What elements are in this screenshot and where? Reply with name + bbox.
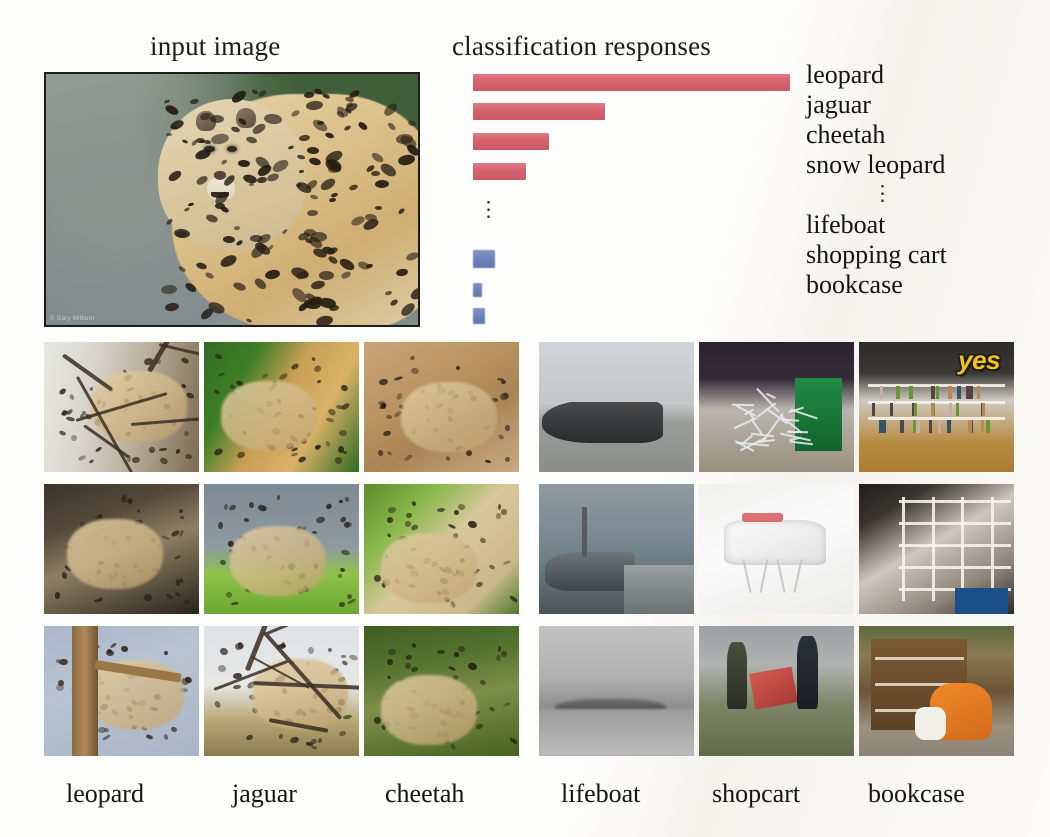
animal-spot: [175, 449, 181, 455]
animal-spot: [488, 564, 495, 570]
shelf-divider: [902, 497, 905, 601]
leopard-spot: [311, 280, 326, 291]
shelf-edge: [868, 417, 1004, 420]
thumbnail-scene: [539, 484, 694, 614]
leopard-spot: [357, 121, 368, 132]
animal-spot: [58, 388, 67, 396]
dock: [624, 565, 694, 614]
animal-spot: [387, 532, 393, 537]
animal-spot: [214, 353, 223, 360]
animal-spot: [404, 454, 414, 462]
figure-canvas: input image classification responses © G…: [0, 0, 1050, 837]
animal-spot: [219, 647, 229, 656]
bar-leopard: [473, 74, 790, 91]
animal-spot: [340, 567, 346, 573]
thumbnail-row: yes: [539, 342, 1014, 472]
leopard-spot: [271, 157, 291, 174]
leopard-spot: [405, 251, 419, 262]
thumbnail-scene: [859, 626, 1014, 756]
animal-spot: [102, 734, 111, 741]
leopard-spot: [195, 262, 208, 271]
animal-body-blob: [401, 382, 497, 452]
boat-hull: [542, 399, 663, 443]
column-caption-leopard: leopard: [66, 779, 144, 809]
thumbnail-cheetah[interactable]: [364, 626, 519, 756]
thumbnail-scene: [204, 626, 359, 756]
thumbnail-row: [539, 626, 1014, 756]
animal-spot: [228, 503, 237, 511]
leopard-spot: [177, 265, 186, 273]
animal-spot: [496, 654, 501, 660]
class-label-lifeboat: lifeboat: [806, 210, 1046, 240]
animal-spot: [290, 362, 300, 371]
animal-spot: [315, 445, 321, 450]
animal-spot: [339, 730, 348, 737]
thumbnail-bookcase[interactable]: yes: [859, 342, 1014, 472]
book: [957, 386, 960, 399]
animal-spot: [379, 378, 389, 385]
animal-spot: [328, 647, 333, 652]
yes-overlay-text: yes: [958, 347, 1000, 373]
animal-spot: [445, 455, 451, 461]
thumbnail-scene: [699, 626, 854, 756]
leopard-spot: [308, 157, 321, 167]
animal-spot: [396, 392, 404, 400]
classification-bar-chart: [473, 70, 803, 320]
book: [938, 420, 941, 433]
thumbnail-scene: [364, 626, 519, 756]
leopard-spot: [253, 276, 268, 291]
animal-body-blob: [67, 519, 163, 589]
thumbnail-shopcart[interactable]: [699, 342, 854, 472]
animal-spot: [78, 455, 87, 462]
leopard-spot: [324, 157, 344, 173]
cart-handle-red: [742, 513, 782, 522]
animal-spot: [387, 659, 394, 665]
leopard-spot: [251, 122, 267, 136]
animal-body-blob: [230, 526, 326, 596]
animal-spot: [411, 643, 417, 650]
animal-spot: [181, 356, 190, 364]
tree-branch: [61, 353, 112, 391]
animal-spot: [107, 648, 112, 653]
book: [872, 403, 875, 416]
leopard-spot: [210, 132, 229, 145]
animal-spot: [312, 531, 317, 534]
animal-spot: [410, 523, 418, 530]
animal-spot: [387, 451, 393, 457]
animal-spot: [475, 581, 483, 588]
shelf-divider: [991, 497, 994, 601]
person-left: [727, 642, 747, 710]
leopard-spot: [408, 120, 418, 127]
animal-spot: [183, 430, 190, 436]
book: [981, 420, 984, 433]
animal-spot: [68, 394, 75, 402]
leopard-spot: [357, 261, 370, 271]
animal-spot: [342, 659, 349, 665]
animal-spot: [55, 683, 64, 691]
animal-spot: [497, 433, 504, 440]
book: [914, 403, 917, 416]
photo-watermark: © Gary Milburn: [50, 316, 95, 322]
leopard-spot: [304, 92, 315, 99]
animal-spot: [411, 501, 417, 508]
animal-spot: [175, 591, 182, 597]
leopard-spot: [164, 103, 180, 116]
book: [890, 403, 893, 416]
thumbnail-scene: [204, 342, 359, 472]
animal-spot: [335, 457, 343, 465]
bar-lifeboat: [473, 250, 495, 268]
class-label-snow-leopard: snow leopard: [806, 150, 1046, 180]
leopard-spot: [375, 206, 382, 210]
bar-jaguar: [473, 103, 605, 120]
book: [947, 420, 950, 433]
leopard-spot: [327, 255, 339, 265]
leopard-spot: [232, 281, 247, 292]
red-cart: [749, 667, 798, 710]
animal-spot: [406, 655, 412, 661]
animal-spot: [244, 517, 249, 522]
animal-spot: [132, 457, 140, 464]
leopard-spot: [234, 226, 241, 230]
thumbnail-row: [539, 484, 1014, 614]
animal-spot: [508, 594, 518, 603]
animal-spot: [467, 520, 478, 529]
animal-spot: [496, 512, 501, 518]
animal-spot: [158, 448, 167, 452]
leopard-spot: [223, 236, 236, 244]
book: [982, 403, 985, 416]
thumbnail-lifeboat[interactable]: [539, 342, 694, 472]
animal-spot: [508, 736, 518, 745]
classification-responses-heading: classification responses: [452, 31, 711, 62]
animal-spot: [148, 446, 156, 454]
animal-spot: [458, 504, 466, 511]
animal-spot: [475, 723, 483, 730]
thumbnail-leopard[interactable]: [44, 626, 199, 756]
animal-spot: [343, 451, 347, 454]
thumbnail-leopard[interactable]: [44, 342, 199, 472]
animal-spot: [387, 648, 396, 656]
thumbnail-bookcase[interactable]: [859, 484, 1014, 614]
animal-spot: [174, 555, 182, 560]
class-label-list: leopard jaguar cheetah snow leopard ⋮ li…: [806, 60, 1046, 300]
animal-spot: [410, 665, 418, 672]
leopard-spot: [384, 290, 392, 296]
thumbnail-leopard[interactable]: [44, 484, 199, 614]
thumbnail-scene: [539, 626, 694, 756]
animal-spot: [479, 679, 487, 686]
tree-branch: [267, 626, 359, 635]
thumbnail-lifeboat[interactable]: [539, 484, 694, 614]
column-caption-bookcase: bookcase: [868, 779, 965, 809]
book: [977, 386, 980, 399]
animal-spot: [450, 743, 456, 751]
book: [909, 386, 912, 399]
leopard-spot: [184, 207, 191, 213]
leopard-spot: [338, 256, 357, 272]
leopard-spot: [324, 131, 335, 139]
animal-spot: [387, 517, 394, 523]
animal-spot: [437, 650, 446, 655]
animal-spot: [338, 446, 344, 453]
animal-spot: [145, 733, 153, 739]
animal-spot: [411, 367, 420, 375]
leopard-spot: [316, 314, 334, 327]
animal-spot: [59, 659, 68, 665]
leopard-spot: [238, 116, 248, 125]
thumbnail-scene: [699, 342, 854, 472]
class-label-jaguar: jaguar: [806, 90, 1046, 120]
animal-spot: [217, 371, 225, 377]
animal-spot: [261, 373, 268, 379]
bar-bookcase: [473, 308, 485, 324]
animal-spot: [393, 376, 402, 382]
book: [949, 403, 952, 416]
shelf-edge: [899, 522, 1011, 525]
column-caption-lifeboat: lifeboat: [561, 779, 640, 809]
leopard-spot: [246, 135, 258, 144]
leopard-spot: [219, 253, 239, 270]
animal-spot: [341, 654, 346, 658]
animal-spot: [339, 601, 345, 606]
animal-spot: [484, 460, 491, 464]
leopard-spot: [221, 158, 228, 164]
animal-spot: [164, 733, 169, 740]
thumbnail-lifeboat[interactable]: [539, 626, 694, 756]
animal-spot: [289, 736, 299, 744]
animal-spot: [232, 685, 240, 690]
animal-spot: [184, 453, 191, 459]
ship-mast: [582, 507, 587, 556]
animal-spot: [164, 651, 169, 656]
animal-spot: [213, 447, 223, 456]
warehouse-wall: [539, 342, 694, 402]
leopard-spot: [408, 284, 420, 302]
thumbnail-bookcase[interactable]: [859, 626, 1014, 756]
leopard-spot: [164, 99, 170, 104]
leopard-spot: [305, 100, 322, 111]
thumbnail-shopcart[interactable]: [699, 626, 854, 756]
leopard-spot: [309, 194, 317, 200]
leopard-spot: [396, 268, 409, 277]
animal-spot: [448, 523, 457, 529]
leopard-spot: [189, 98, 199, 105]
leopard-spot: [288, 145, 295, 150]
leopard-spot: [160, 284, 177, 295]
animal-spot: [257, 504, 266, 512]
shelf-edge: [875, 657, 965, 660]
animal-spot: [236, 450, 245, 458]
animal-spot: [277, 495, 281, 501]
animal-spot: [308, 647, 315, 654]
animal-spot: [166, 593, 174, 600]
animal-spot: [224, 504, 228, 510]
leopard-spot: [328, 197, 335, 202]
animal-spot: [214, 389, 221, 396]
input-image-heading: input image: [150, 31, 280, 62]
animal-spot: [377, 450, 383, 456]
leopard-spot: [264, 113, 283, 125]
animal-spot: [325, 440, 331, 447]
thumbnail-scene: [44, 626, 199, 756]
animal-spot: [454, 652, 460, 657]
leopard-photo-scene: © Gary Milburn: [46, 74, 418, 325]
animal-spot: [505, 425, 510, 431]
thumbnail-shopcart[interactable]: [699, 484, 854, 614]
animal-spot: [297, 455, 306, 463]
tree-trunk: [72, 626, 98, 756]
book: [931, 403, 934, 416]
shelf-divider: [932, 497, 935, 601]
animal-spot: [246, 733, 254, 740]
leopard-spot: [210, 114, 224, 122]
animal-spot: [505, 457, 510, 462]
class-label-leopard: leopard: [806, 60, 1046, 90]
cart-basket: [724, 520, 826, 564]
animal-spot: [313, 364, 322, 373]
animal-spot: [110, 643, 117, 649]
animal-spot: [179, 508, 183, 512]
animal-spot: [501, 650, 507, 656]
animal-spot: [179, 530, 185, 538]
class-label-shopping-cart: shopping cart: [806, 240, 1046, 270]
thumbnail-cheetah[interactable]: [364, 342, 519, 472]
leopard-spot: [318, 177, 336, 193]
animal-spot: [315, 516, 325, 524]
green-dumpster: [795, 378, 842, 451]
animal-body-blob: [221, 381, 317, 451]
leopard-spot: [386, 122, 397, 132]
animal-spot: [500, 379, 506, 384]
animal-spot: [184, 599, 189, 604]
shelf-divider: [961, 497, 964, 601]
leopard-spot: [195, 175, 208, 186]
column-caption-shopcart: shopcart: [712, 779, 800, 809]
animal-spot: [89, 459, 95, 464]
thumbnail-grid-objects: yes: [539, 342, 1014, 756]
animal-spot: [454, 510, 460, 515]
thumbnail-row: [44, 342, 519, 472]
leopard-spot: [194, 148, 212, 162]
book: [969, 386, 972, 399]
thumbnail-jaguar[interactable]: [204, 484, 359, 614]
book: [896, 386, 899, 399]
bar-shopping-cart: [473, 283, 482, 297]
animal-spot: [409, 356, 415, 362]
class-label-bookcase: bookcase: [806, 270, 1046, 300]
bar-cheetah: [473, 133, 549, 150]
animal-spot: [317, 379, 322, 384]
book: [948, 386, 951, 399]
leopard-spot: [166, 133, 172, 137]
leopard-spot: [319, 271, 334, 280]
leopard-spot: [340, 270, 352, 280]
thumbnail-jaguar[interactable]: [204, 342, 359, 472]
animal-spot: [382, 430, 391, 437]
leopard-spot: [164, 302, 180, 312]
white-bag: [915, 707, 946, 741]
leopard-spot: [250, 235, 263, 243]
animal-spot: [218, 665, 226, 672]
thumbnail-scene: [539, 342, 694, 472]
leopard-spot: [176, 231, 187, 237]
thumbnail-row: [44, 626, 519, 756]
column-caption-jaguar: jaguar: [232, 779, 297, 809]
animal-spot: [340, 549, 350, 556]
thumbnail-scene: [699, 484, 854, 614]
animal-spot: [214, 701, 221, 709]
animal-spot: [160, 535, 169, 540]
animal-spot: [450, 601, 456, 609]
animal-spot: [311, 745, 318, 750]
animal-spot: [278, 733, 284, 739]
animal-spot: [348, 654, 358, 661]
leopard-spot: [375, 180, 389, 189]
book: [936, 386, 939, 399]
animal-spot: [180, 515, 184, 519]
leopard-spot: [298, 135, 310, 143]
leopard-spot: [249, 183, 255, 187]
thumbnail-grid-animals: [44, 342, 519, 756]
leopard-spot: [371, 171, 380, 176]
animal-spot: [231, 601, 240, 605]
leopard-spot: [230, 88, 249, 105]
animal-spot: [55, 592, 60, 599]
animal-spot: [291, 453, 299, 458]
leopard-spot: [205, 213, 218, 223]
leopard-spot: [246, 318, 253, 323]
animal-body-blob: [381, 675, 477, 745]
thumbnail-cheetah[interactable]: [364, 484, 519, 614]
animal-spot: [479, 537, 487, 544]
animal-spot: [225, 590, 234, 599]
book: [956, 403, 959, 416]
thumbnail-scene: [364, 484, 519, 614]
leopard-spot: [257, 89, 267, 98]
animal-spot: [326, 417, 335, 423]
leopard-spot: [219, 205, 230, 214]
leopard-spot: [281, 229, 288, 235]
column-caption-cheetah: cheetah: [385, 779, 464, 809]
shelf-edge: [899, 566, 1011, 569]
leopard-spot: [165, 218, 172, 225]
leopard-spot: [222, 174, 236, 188]
leopard-spot: [389, 298, 399, 307]
animal-spot: [317, 738, 322, 744]
animal-spot: [341, 384, 350, 392]
leopard-spot: [319, 296, 337, 308]
animal-spot: [406, 513, 412, 519]
leopard-spot: [204, 271, 214, 280]
animal-spot: [339, 500, 344, 505]
thumbnail-jaguar[interactable]: [204, 626, 359, 756]
leopard-spot: [307, 146, 320, 154]
animal-spot: [94, 599, 102, 604]
leopard-spot: [167, 169, 183, 183]
tree-branch: [159, 343, 199, 366]
animal-spot: [387, 506, 396, 514]
animal-spot: [339, 429, 347, 436]
leopard-spot: [397, 207, 405, 215]
leopard-spot: [307, 210, 318, 217]
book: [901, 420, 904, 433]
thumbnail-scene: [859, 484, 1014, 614]
animal-spot: [65, 416, 75, 422]
leopard-spot: [382, 101, 399, 118]
